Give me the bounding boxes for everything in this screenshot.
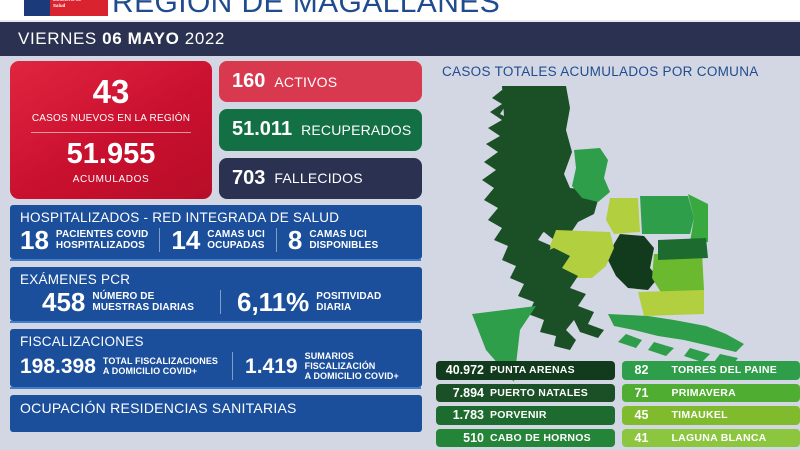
map-area-punta-arenas[interactable]	[608, 234, 658, 290]
comuna-value: 71	[622, 386, 662, 400]
comuna-row-timaukel[interactable]: 45 TIMAUKEL	[622, 406, 800, 425]
uci-available-label: CAMAS UCI DISPONIBLES	[309, 229, 378, 251]
map-area-cabo-de-hornos[interactable]	[608, 314, 744, 352]
label-line-1: TOTAL FISCALIZACIONES	[103, 356, 218, 366]
vertical-separator	[232, 352, 233, 380]
vertical-separator	[220, 290, 221, 314]
map-area-south-strip[interactable]	[638, 290, 704, 316]
map-title: CASOS TOTALES ACUMULADOS POR COMUNA	[442, 64, 759, 79]
new-cases-value: 43	[93, 75, 130, 108]
uci-available-value: 8	[288, 227, 302, 253]
activos-label: ACTIVOS	[274, 74, 337, 90]
map-area-east-mid[interactable]	[640, 196, 694, 234]
fiscalizaciones-item-total: 198.398 TOTAL FISCALIZACIONES A DOMICILI…	[20, 356, 218, 377]
comuna-column-left: 40.972 PUNTA ARENAS 7.894 PUERTO NATALES…	[436, 361, 615, 447]
fiscalizaciones-items-row: 198.398 TOTAL FISCALIZACIONES A DOMICILI…	[20, 351, 422, 381]
comuna-name: CABO DE HORNOS	[490, 432, 591, 444]
label-line-1: NÚMERO DE	[92, 291, 154, 302]
card-divider	[31, 132, 191, 133]
label-line-2: DISPONIBLES	[309, 240, 378, 251]
ministerio-de-salud-logo: Ministerio de Salud	[24, 0, 108, 16]
top-title-strip: Ministerio de Salud REGIÓN DE MAGALLANES	[0, 0, 800, 22]
comuna-name: LAGUNA BLANCA	[662, 432, 767, 444]
logo-line-2: Salud	[53, 3, 106, 9]
pcr-positivity-label: POSITIVIDAD DIARIA	[316, 291, 381, 313]
comuna-name: PUNTA ARENAS	[490, 364, 575, 376]
comuna-row-cabo-de-hornos[interactable]: 510 CABO DE HORNOS	[436, 429, 615, 448]
comuna-name: PORVENIR	[490, 409, 547, 421]
activos-card: 160 ACTIVOS	[219, 61, 422, 102]
block-underline	[10, 259, 421, 261]
fallecidos-label: FALLECIDOS	[274, 170, 362, 186]
comuna-column-right: 82 TORRES DEL PAINE 71 PRIMAVERA 45 TIMA…	[622, 361, 800, 447]
cumulative-cases-label: ACUMULADOS	[73, 174, 150, 185]
label-line-2: A DOMICILIO COVID+	[103, 366, 197, 376]
pcr-item-samples: 458 NÚMERO DE MUESTRAS DIARIAS	[42, 289, 194, 315]
block-underline	[10, 387, 421, 389]
comuna-name: TIMAUKEL	[662, 409, 728, 421]
pcr-title: EXÁMENES PCR	[20, 272, 422, 287]
uci-occupied-value: 14	[171, 227, 200, 253]
comuna-name: PRIMAVERA	[662, 387, 736, 399]
cumulative-cases-value: 51.955	[67, 140, 156, 169]
fiscalizaciones-item-sumarios: 1.419 SUMARIOS FISCALIZACIÓN A DOMICILIO…	[245, 351, 399, 381]
date-weekday: VIERNES	[18, 29, 102, 48]
uci-occupied-label: CAMAS UCI OCUPADAS	[207, 229, 265, 251]
side-statistics-cards: 160 ACTIVOS 51.011 RECUPERADOS 703 FALLE…	[219, 61, 422, 199]
recuperados-label: RECUPERADOS	[301, 122, 411, 138]
recuperados-card: 51.011 RECUPERADOS	[219, 109, 422, 150]
map-svg	[458, 82, 758, 382]
right-map-panel: CASOS TOTALES ACUMULADOS POR COMUNA	[428, 56, 800, 450]
label-line-1: PACIENTES COVID	[56, 229, 148, 240]
label-line-2: OCUPADAS	[207, 240, 264, 251]
residencias-sanitarias-block: OCUPACIÓN RESIDENCIAS SANITARIAS	[10, 395, 422, 432]
comuna-value: 45	[622, 408, 662, 422]
fiscalizaciones-block: FISCALIZACIONES 198.398 TOTAL FISCALIZAC…	[10, 329, 422, 387]
comuna-row-primavera[interactable]: 71 PRIMAVERA	[622, 384, 800, 403]
hospitalized-item-patients: 18 PACIENTES COVID HOSPITALIZADOS	[20, 227, 148, 253]
hospitalized-item-uci-available: 8 CAMAS UCI DISPONIBLES	[288, 227, 378, 253]
date-text: VIERNES 06 MAYO 2022	[0, 29, 225, 49]
activos-value: 160	[232, 70, 265, 93]
label-line-1: CAMAS UCI	[309, 229, 367, 240]
label-line-3: A DOMICILIO COVID+	[305, 371, 399, 381]
page-title: REGIÓN DE MAGALLANES	[112, 0, 500, 20]
comuna-row-torres-del-paine[interactable]: 82 TORRES DEL PAINE	[622, 361, 800, 380]
pcr-block: EXÁMENES PCR 458 NÚMERO DE MUESTRAS DIAR…	[10, 267, 422, 321]
hospitalized-item-uci-occupied: 14 CAMAS UCI OCUPADAS	[171, 227, 265, 253]
fiscalizaciones-total-label: TOTAL FISCALIZACIONES A DOMICILIO COVID+	[103, 356, 218, 376]
pcr-item-positivity: 6,11% POSITIVIDAD DIARIA	[237, 289, 381, 315]
pcr-samples-label: NÚMERO DE MUESTRAS DIARIAS	[92, 291, 194, 313]
comuna-value: 40.972	[436, 363, 490, 377]
vertical-separator	[159, 228, 160, 252]
comuna-value: 1.783	[436, 408, 490, 422]
new-cases-card: 43 CASOS NUEVOS EN LA REGIÓN 51.955 ACUM…	[10, 61, 212, 199]
new-cases-label: CASOS NUEVOS EN LA REGIÓN	[32, 113, 190, 124]
vertical-separator	[276, 228, 277, 252]
fallecidos-card: 703 FALLECIDOS	[219, 158, 422, 199]
map-area-laguna-blanca[interactable]	[606, 198, 640, 234]
map-area-porvenir[interactable]	[658, 238, 708, 260]
comuna-value: 510	[436, 431, 490, 445]
logo-blue-block	[24, 0, 50, 16]
block-underline	[10, 321, 421, 323]
logo-text-block: Ministerio de Salud	[50, 0, 108, 16]
hospitalized-items-row: 18 PACIENTES COVID HOSPITALIZADOS 14 CAM…	[20, 227, 422, 253]
pcr-positivity-value: 6,11%	[237, 289, 309, 315]
label-line-2: DIARIA	[316, 302, 351, 313]
comuna-cases-list: 40.972 PUNTA ARENAS 7.894 PUERTO NATALES…	[436, 361, 800, 447]
hospitalized-patients-value: 18	[20, 227, 49, 253]
label-line-1: POSITIVIDAD	[316, 291, 381, 302]
date-bar: VIERNES 06 MAYO 2022	[0, 22, 800, 56]
comuna-row-puerto-natales[interactable]: 7.894 PUERTO NATALES	[436, 384, 615, 403]
label-line-1: SUMARIOS	[305, 351, 354, 361]
fiscalizaciones-total-value: 198.398	[20, 356, 96, 377]
residencias-title: OCUPACIÓN RESIDENCIAS SANITARIAS	[20, 400, 422, 416]
sumarios-label: SUMARIOS FISCALIZACIÓN A DOMICILIO COVID…	[305, 351, 399, 381]
comuna-name: PUERTO NATALES	[490, 387, 588, 399]
fallecidos-value: 703	[232, 167, 265, 190]
label-line-2: MUESTRAS DIARIAS	[92, 302, 194, 313]
pcr-items-row: 458 NÚMERO DE MUESTRAS DIARIAS 6,11% POS…	[20, 289, 422, 315]
recuperados-value: 51.011	[232, 118, 292, 141]
comuna-row-porvenir[interactable]: 1.783 PORVENIR	[436, 406, 615, 425]
left-statistics-panel: 43 CASOS NUEVOS EN LA REGIÓN 51.955 ACUM…	[0, 56, 428, 450]
pcr-samples-value: 458	[42, 289, 85, 315]
comuna-name: TORRES DEL PAINE	[662, 364, 778, 376]
hospitalized-block: HOSPITALIZADOS - RED INTEGRADA DE SALUD …	[10, 205, 422, 259]
hospitalized-patients-label: PACIENTES COVID HOSPITALIZADOS	[56, 229, 148, 251]
date-day-month: 06 MAYO	[102, 29, 179, 48]
comuna-value: 7.894	[436, 386, 490, 400]
label-line-2: FISCALIZACIÓN	[305, 361, 376, 371]
hospitalized-title: HOSPITALIZADOS - RED INTEGRADA DE SALUD	[20, 210, 422, 225]
comuna-row-laguna-blanca[interactable]: 41 LAGUNA BLANCA	[622, 429, 800, 448]
label-line-2: HOSPITALIZADOS	[56, 240, 145, 251]
comuna-value: 41	[622, 431, 662, 445]
comuna-row-punta-arenas[interactable]: 40.972 PUNTA ARENAS	[436, 361, 615, 380]
sumarios-value: 1.419	[245, 356, 298, 377]
comuna-value: 82	[622, 363, 662, 377]
date-year: 2022	[179, 29, 225, 48]
top-statistics-row: 43 CASOS NUEVOS EN LA REGIÓN 51.955 ACUM…	[10, 61, 422, 199]
label-line-1: CAMAS UCI	[207, 229, 265, 240]
fiscalizaciones-title: FISCALIZACIONES	[20, 334, 422, 349]
magallanes-region-map[interactable]	[458, 82, 758, 382]
